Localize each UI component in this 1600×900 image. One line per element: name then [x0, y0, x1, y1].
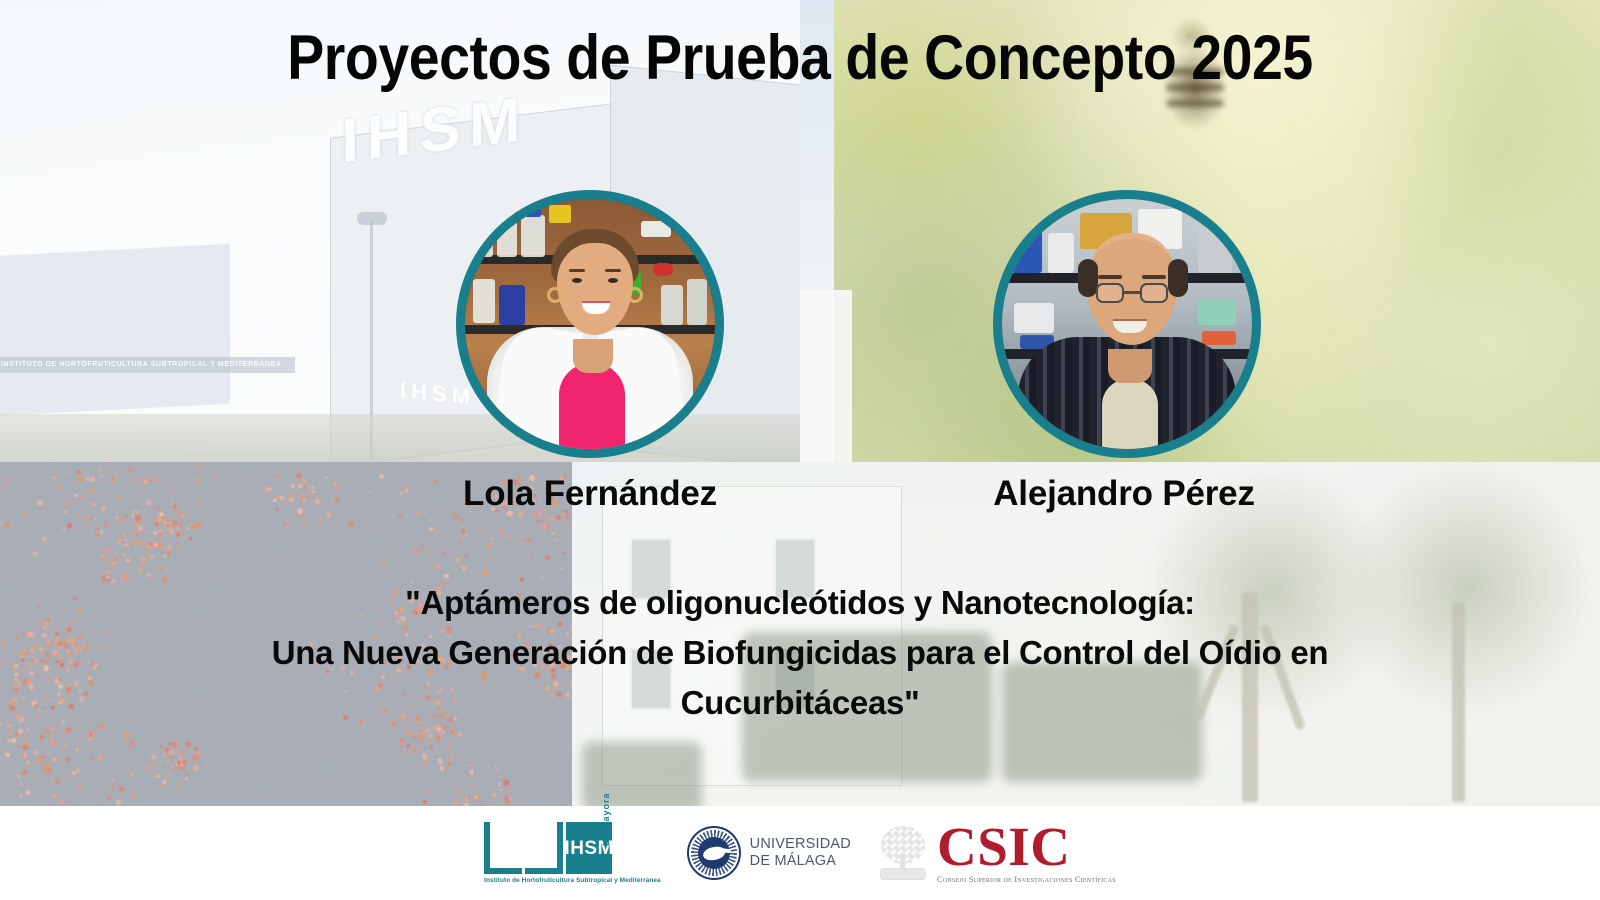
project-title: "Aptámeros de oligonucleótidos y Nanotec…: [100, 578, 1500, 728]
building-secondary: [0, 244, 230, 417]
presentation-slide: IHSM IHSM INSTITUTO DE HORTOFRUTICULTURA…: [0, 0, 1600, 900]
footer-logo-bar: IHSM La Mayora Instituto de Hortofruticu…: [0, 806, 1600, 900]
project-title-line-1: "Aptámeros de oligonucleótidos y Nanotec…: [100, 578, 1500, 628]
uma-seal-icon: [687, 826, 741, 880]
csic-logo: CSIC Consejo Superior de Investigaciones…: [877, 822, 1116, 884]
ihsm-tagline: Instituto de Hortofruticultura Subtropic…: [484, 877, 661, 884]
csic-logo-text: CSIC Consejo Superior de Investigaciones…: [937, 822, 1116, 884]
bracket-shape-icon: [525, 822, 563, 874]
ihsm-logo: IHSM La Mayora Instituto de Hortofruticu…: [484, 822, 661, 884]
ihsm-sub-vertical: La Mayora: [615, 822, 628, 874]
uma-line-2: DE MÁLAGA: [750, 853, 851, 870]
dove-icon: [702, 845, 725, 860]
ihsm-sub-label: La Mayora: [601, 792, 611, 846]
institute-sign-band: INSTITUTO DE HORTOFRUTICULTURA SUBTROPIC…: [0, 357, 295, 373]
uma-logo: UNIVERSIDAD DE MÁLAGA: [687, 826, 851, 880]
greenhouse-panel: [800, 290, 852, 462]
csic-tree-icon: [877, 824, 929, 882]
uma-line-1: UNIVERSIDAD: [750, 836, 851, 853]
researcher-name-2: Alejandro Pérez: [914, 474, 1334, 514]
ihsm-logo-mark: IHSM La Mayora: [484, 822, 628, 874]
csic-acronym: CSIC: [937, 822, 1070, 873]
csic-subtitle: Consejo Superior de Investigaciones Cien…: [937, 875, 1116, 884]
project-title-line-3: Cucurbitáceas": [100, 678, 1500, 728]
shrub: [582, 742, 702, 806]
background-collage: IHSM IHSM INSTITUTO DE HORTOFRUTICULTURA…: [0, 0, 1600, 900]
researcher-name-1: Lola Fernández: [380, 474, 800, 514]
project-title-line-2: Una Nueva Generación de Biofungicidas pa…: [100, 628, 1500, 678]
portrait-lola-fernandez: [456, 190, 724, 458]
portrait-photo: [465, 199, 715, 449]
lamp-head: [357, 212, 387, 225]
bracket-shape-icon: [484, 822, 522, 874]
portrait-photo: [1002, 199, 1252, 449]
slide-title: Proyectos de Prueba de Concepto 2025: [96, 22, 1504, 94]
uma-logo-text: UNIVERSIDAD DE MÁLAGA: [750, 836, 851, 870]
portrait-alejandro-perez: [993, 190, 1261, 458]
